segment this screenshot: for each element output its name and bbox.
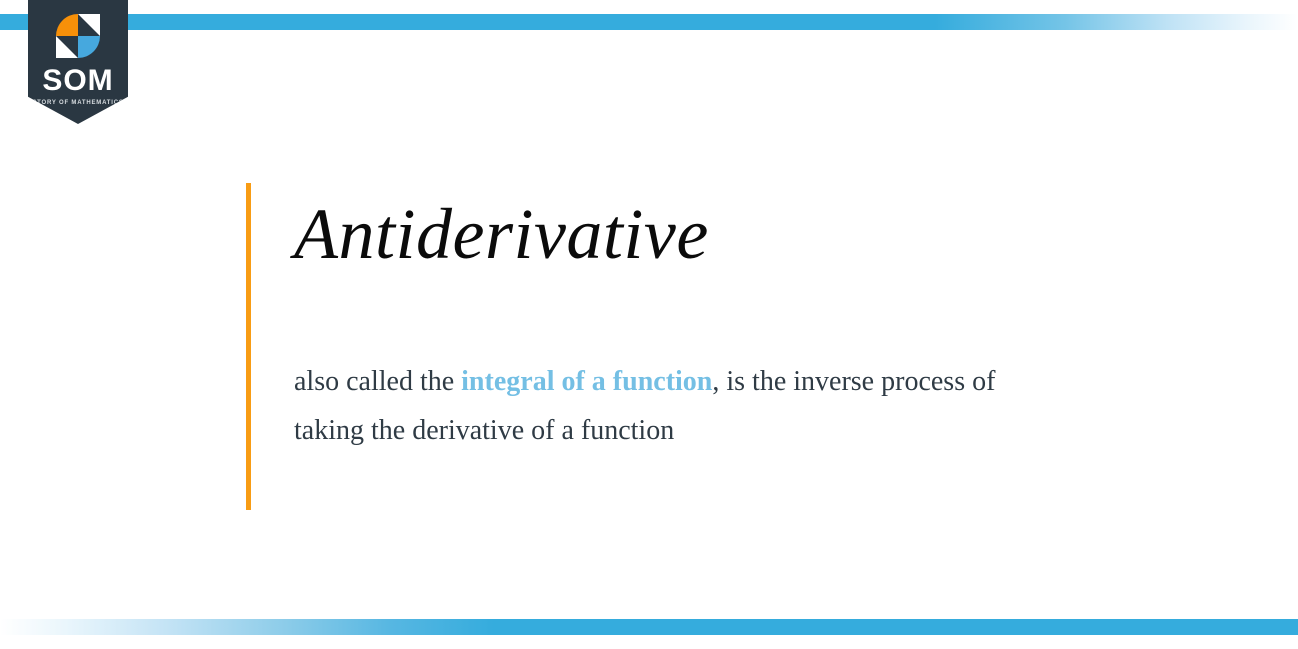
content-block: Antiderivative also called the integral …: [294, 183, 1114, 455]
page-title: Antiderivative: [294, 183, 1114, 276]
orange-accent-bar: [246, 183, 251, 510]
definition-text-before: also called the: [294, 366, 461, 397]
logo-quadrant-bottom-right-icon: [78, 36, 100, 58]
logo-quadrant-top-left-icon: [56, 14, 78, 36]
som-tagline: STORY OF MATHEMATICS: [32, 100, 123, 106]
bottom-divider-rule: [0, 619, 1298, 635]
som-logo-badge: SOM STORY OF MATHEMATICS: [28, 0, 128, 124]
top-divider-rule: [0, 14, 1298, 30]
definition-paragraph: also called the integral of a function, …: [294, 276, 1034, 455]
definition-highlight-term: integral of a function: [461, 366, 712, 397]
som-wordmark: SOM: [42, 66, 113, 96]
logo-quadrant-bottom-left-icon: [56, 36, 78, 58]
logo-quadrant-top-right-icon: [78, 14, 100, 36]
som-logo-mark-icon: [56, 14, 100, 58]
slide-canvas: SOM STORY OF MATHEMATICS Antiderivative …: [0, 0, 1298, 649]
